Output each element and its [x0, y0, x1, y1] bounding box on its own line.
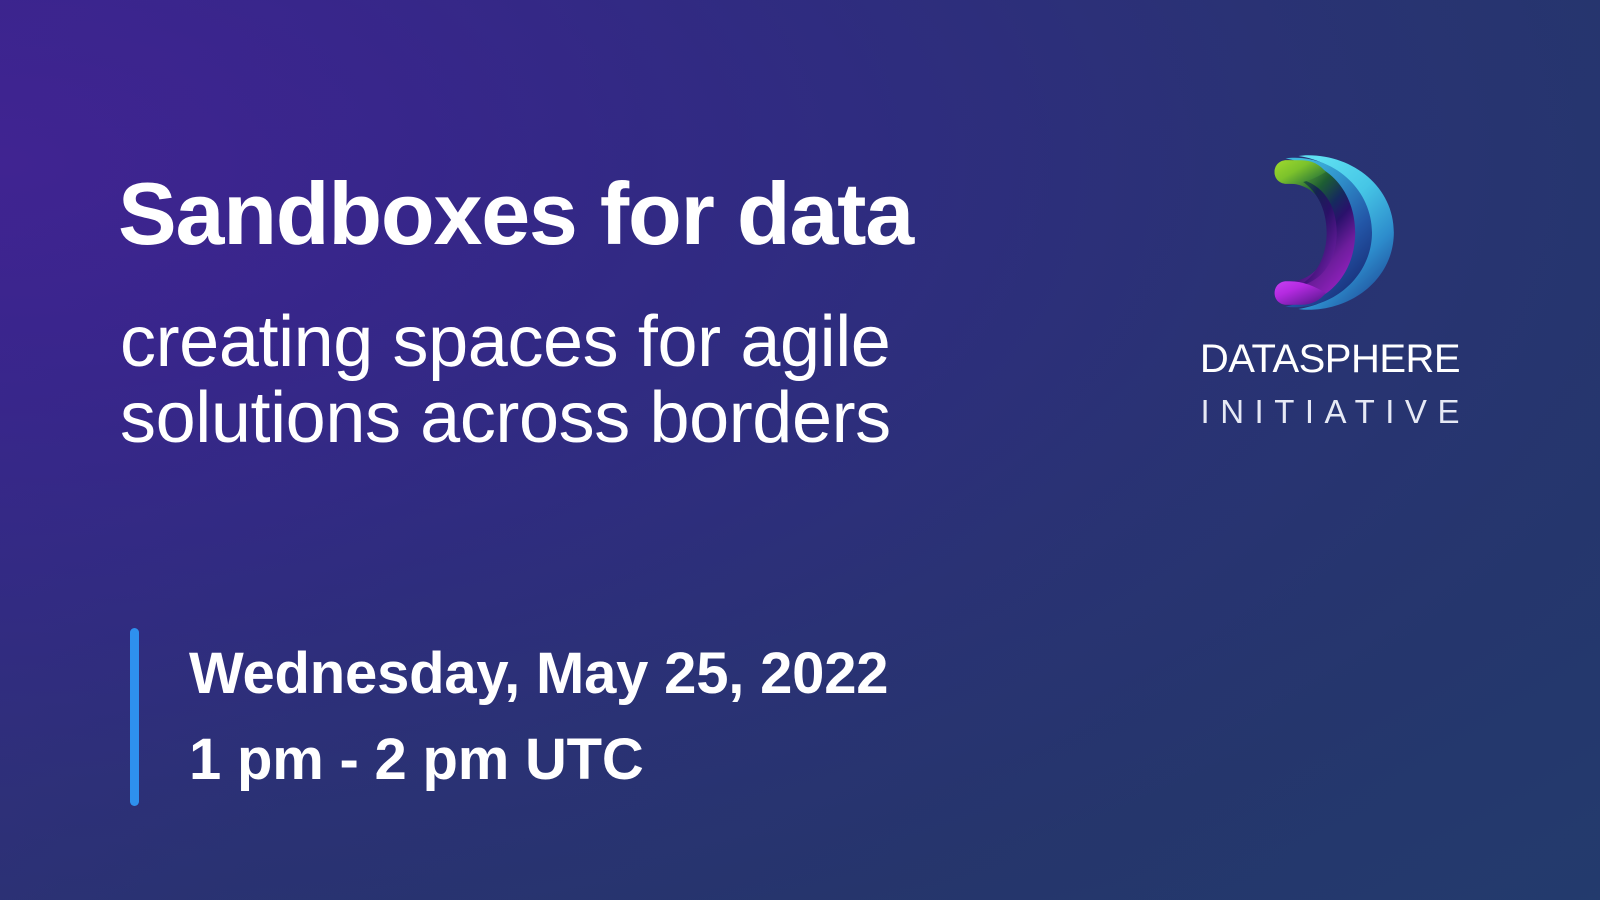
datasphere-crescent-icon: [1246, 150, 1414, 315]
logo-subwordmark: INITIATIVE: [1160, 395, 1500, 428]
event-banner: Sandboxes for data creating spaces for a…: [0, 0, 1600, 900]
banner-text-column: Sandboxes for data creating spaces for a…: [118, 0, 1118, 900]
event-datetime-lines: Wednesday, May 25, 2022 1 pm - 2 pm UTC: [189, 628, 888, 806]
event-datetime-block: Wednesday, May 25, 2022 1 pm - 2 pm UTC: [130, 628, 888, 806]
logo-wordmark: DATASPHERE: [1160, 339, 1500, 379]
event-date: Wednesday, May 25, 2022: [189, 631, 888, 717]
event-time: 1 pm - 2 pm UTC: [189, 717, 888, 803]
accent-rule: [130, 628, 139, 806]
page-title: Sandboxes for data: [118, 170, 913, 258]
subtitle-line-2: solutions across borders: [120, 380, 891, 456]
subtitle-line-1: creating spaces for agile: [120, 304, 891, 380]
datasphere-logo-lockup: DATASPHERE INITIATIVE: [1160, 150, 1500, 428]
subtitle: creating spaces for agile solutions acro…: [120, 304, 891, 457]
